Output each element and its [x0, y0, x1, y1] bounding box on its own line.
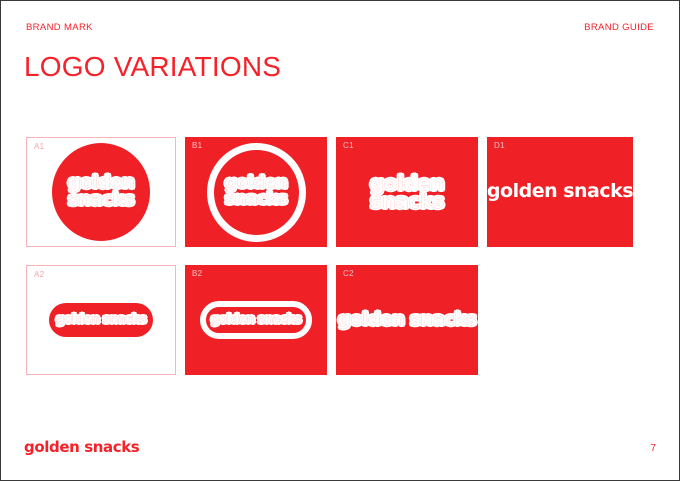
wordmark-stacked: golden snacks — [68, 175, 134, 208]
card-label-c1: C1 — [343, 142, 354, 150]
card-stage-d1: golden snacks — [487, 137, 633, 247]
wordmark-stacked: golden snacks — [225, 176, 287, 207]
card-stage-b2: golden snacks — [185, 265, 327, 375]
logo-variation-card-c2[interactable]: C2 golden snacks — [336, 265, 478, 375]
wordmark-inline: golden snacks — [487, 183, 633, 200]
brand-guide-page: BRAND MARK BRAND GUIDE LOGO VARIATIONS A… — [0, 0, 680, 481]
wordmark-inline: golden snacks — [211, 314, 301, 325]
card-label-b2: B2 — [192, 270, 202, 278]
card-label-a2: A2 — [34, 271, 44, 279]
logo-variation-card-c1[interactable]: C1 golden snacks — [336, 137, 478, 247]
logo-variation-card-a2[interactable]: A2 golden snacks — [26, 265, 176, 375]
card-stage-b1: golden snacks — [185, 137, 327, 247]
page-title: LOGO VARIATIONS — [24, 51, 281, 83]
logo-circle-badge: golden snacks — [52, 143, 150, 241]
wordmark-line-snacks: snacks — [68, 192, 134, 209]
page-number: 7 — [650, 443, 656, 454]
logo-pill-badge: golden snacks — [49, 303, 153, 337]
logo-variation-card-b1[interactable]: B1 golden snacks — [185, 137, 327, 247]
wordmark-line-snacks: snacks — [225, 192, 287, 208]
wordmark-inline: golden snacks — [338, 312, 476, 329]
card-label-c2: C2 — [343, 270, 354, 278]
wordmark-stacked: golden snacks — [370, 174, 444, 211]
wordmark-inline: golden snacks — [56, 314, 146, 325]
logo-variation-card-a1[interactable]: A1 golden snacks — [26, 137, 176, 247]
header-document-label: BRAND GUIDE — [584, 22, 654, 33]
page-header: BRAND MARK BRAND GUIDE — [26, 22, 654, 36]
card-stage-c1: golden snacks — [336, 137, 478, 247]
header-section-label: BRAND MARK — [26, 22, 93, 33]
page-footer: golden snacks 7 — [24, 434, 656, 456]
card-stage-a2: golden snacks — [27, 266, 175, 374]
logo-variation-card-d1[interactable]: D1 golden snacks — [487, 137, 633, 247]
card-label-d1: D1 — [494, 142, 505, 150]
footer-wordmark: golden snacks — [24, 438, 139, 456]
logo-circle-outline: golden snacks — [207, 143, 306, 242]
logo-pill-outline: golden snacks — [200, 301, 312, 339]
wordmark-line-snacks: snacks — [370, 192, 444, 210]
card-label-b1: B1 — [192, 142, 202, 150]
card-stage-a1: golden snacks — [27, 138, 175, 246]
logo-variation-card-b2[interactable]: B2 golden snacks — [185, 265, 327, 375]
card-stage-c2: golden snacks — [336, 265, 478, 375]
card-label-a1: A1 — [34, 143, 44, 151]
